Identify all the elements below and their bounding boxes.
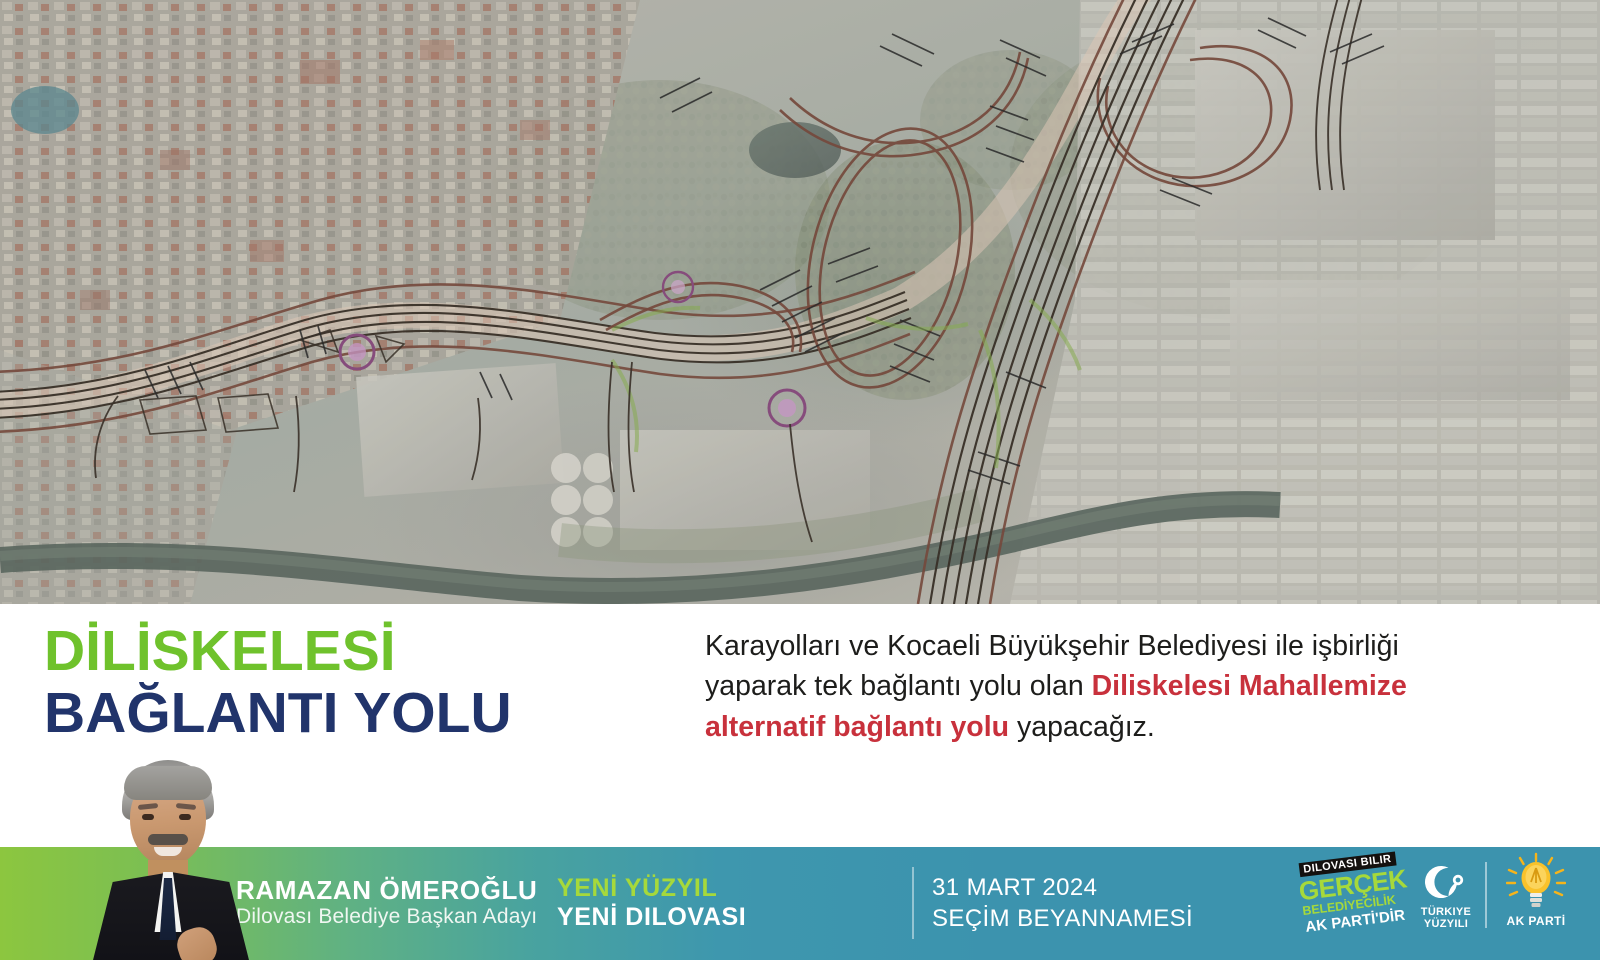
- lightbulb-icon: [1506, 852, 1566, 914]
- portrait-eye-right: [179, 814, 191, 820]
- portrait-eye-left: [142, 814, 154, 820]
- title-block: DİLİSKELESİ BAĞLANTI YOLU: [44, 622, 512, 742]
- description-part2: yapacağız.: [1009, 711, 1155, 743]
- campaign-poster: DİLİSKELESİ BAĞLANTI YOLU Karayolları ve…: [0, 0, 1600, 960]
- election-date: 31 MART 2024: [932, 874, 1097, 902]
- satellite-map: [0, 0, 1600, 604]
- ak-parti-label: AK PARTİ: [1492, 914, 1580, 928]
- candidate-name: RAMAZAN ÖMEROĞLU: [236, 875, 537, 906]
- logo-separator: [1485, 862, 1487, 928]
- footer-divider: [912, 867, 914, 939]
- slogan-line2: YENİ DILOVASI: [557, 903, 746, 932]
- description-text: Karayolları ve Kocaeli Büyükşehir Beledi…: [705, 626, 1465, 747]
- crescent-moon-icon: [1421, 858, 1469, 906]
- portrait-moustache: [148, 834, 188, 845]
- gercek-belediyecilik-logo: DILOVASI BILIR GERÇEK BELEDİYECİLİK AK P…: [1294, 851, 1411, 942]
- page-title-line2: BAĞLANTI YOLU: [44, 684, 512, 742]
- candidate-role: Dilovası Belediye Başkan Adayı: [236, 905, 537, 929]
- manifesto-label: SEÇİM BEYANNAMESİ: [932, 905, 1193, 933]
- portrait-hair-front: [124, 766, 212, 800]
- turkiye-logo-line2: YÜZYILI: [1411, 918, 1481, 930]
- ak-parti-logo: AK PARTİ: [1492, 852, 1580, 936]
- map-imagery: [0, 0, 1600, 604]
- turkiye-logo-line1: TÜRKIYE: [1411, 906, 1481, 918]
- slogan-line1: YENİ YÜZYIL: [557, 874, 717, 903]
- page-title-line1: DİLİSKELESİ: [44, 622, 512, 680]
- candidate-photo: [72, 752, 262, 960]
- turkiye-yuzyili-logo: TÜRKIYE YÜZYILI: [1411, 858, 1481, 934]
